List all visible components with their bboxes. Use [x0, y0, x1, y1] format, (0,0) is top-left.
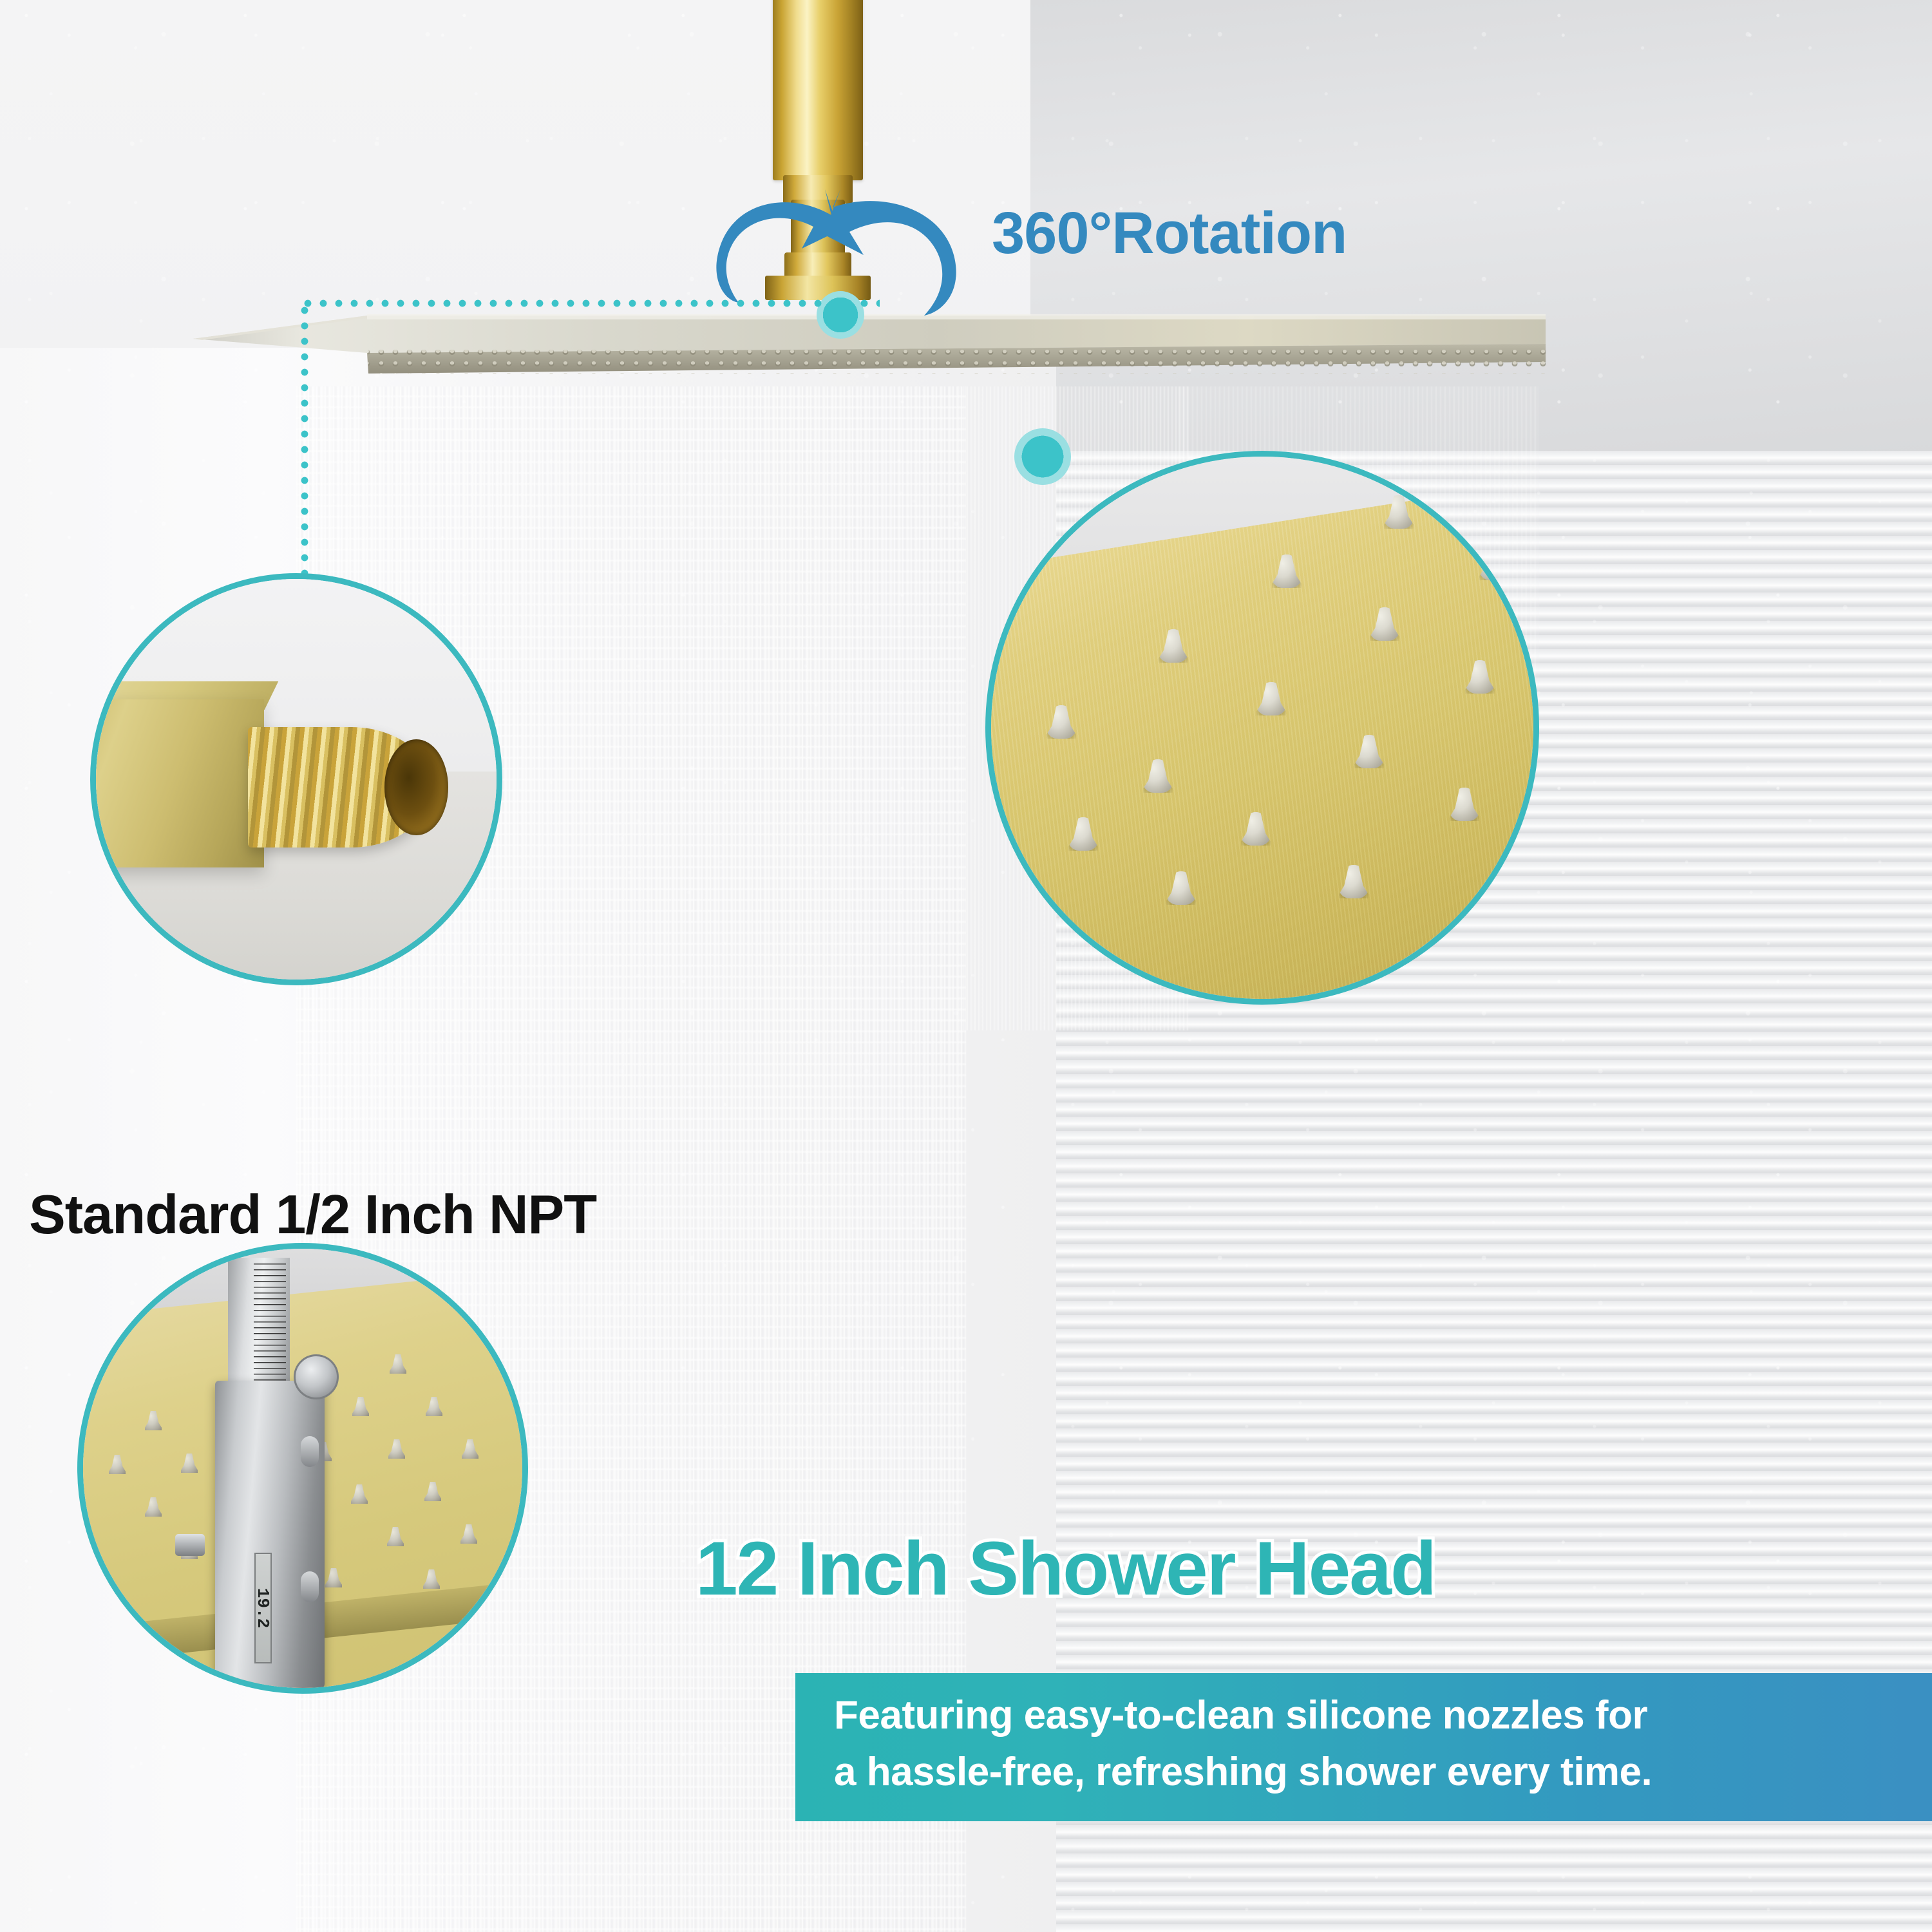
caliper-lcd-screen: 19.2 — [254, 1553, 272, 1663]
caption-line-1: Featuring easy-to-clean silicone nozzles… — [834, 1687, 1929, 1744]
infographic-canvas: 360°Rotation Standard 1/2 Inch NPT — [0, 0, 1932, 1932]
caliper-photo: 19.2 — [83, 1249, 522, 1688]
caption-text-block: Featuring easy-to-clean silicone nozzles… — [834, 1687, 1929, 1801]
caliper-zero-button[interactable] — [301, 1436, 319, 1467]
rotate-left-arrow-icon — [705, 187, 840, 303]
npt-fitting-photo — [96, 579, 497, 980]
caliper-thumb-wheel[interactable] — [294, 1354, 339, 1399]
caliper-measurement-value: 19.2 — [254, 1588, 273, 1628]
page-title: 12 Inch Shower Head — [696, 1525, 1435, 1613]
npt-label: Standard 1/2 Inch NPT — [29, 1184, 596, 1247]
callout-circle-nozzle-closeup — [985, 451, 1539, 1005]
shower-arm-pipe — [773, 0, 863, 180]
leader-line-horizontal — [300, 299, 880, 308]
leader-line-vertical — [300, 303, 309, 586]
npt-elbow-body — [90, 699, 264, 867]
caption-line-2: a hassle-free, refreshing shower every t… — [834, 1744, 1929, 1801]
callout-circle-npt-fitting — [90, 573, 502, 985]
nozzle-closeup-photo — [991, 457, 1533, 999]
rotation-label: 360°Rotation — [992, 200, 1347, 267]
npt-thread-opening — [384, 739, 449, 835]
caliper-power-button[interactable] — [301, 1571, 319, 1602]
caliper-lock-screw[interactable] — [175, 1534, 205, 1556]
caliper-body: 19.2 — [215, 1381, 325, 1688]
callout-circle-caliper-measurement: 19.2 — [77, 1243, 528, 1694]
